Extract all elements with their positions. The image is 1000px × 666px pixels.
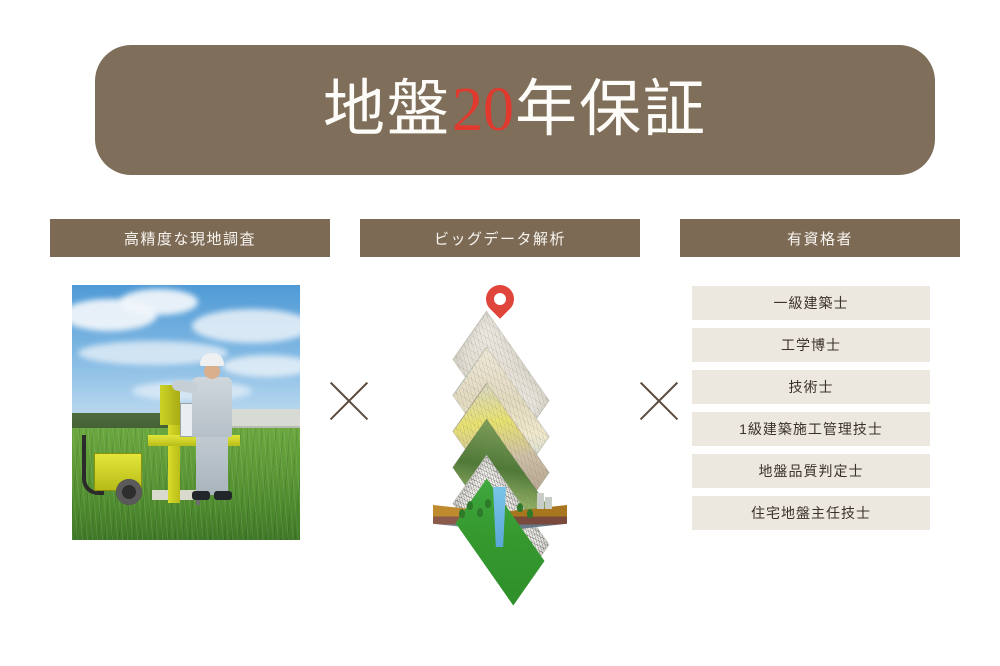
terrain-tree [459,509,465,518]
terrain-tree [527,509,533,518]
cloud-icon [120,289,198,315]
worker-boot [214,491,232,500]
list-item: 住宅地盤主任技士 [692,496,930,530]
column-header-survey-label: 高精度な現地調査 [124,228,256,249]
title-suffix: 年保証 [515,79,707,141]
page-title: 地盤20年保証 [323,79,707,141]
gis-layer-stack-illustration [415,285,585,520]
list-item: 技術士 [692,370,930,404]
list-item-label: 1級建築施工管理技士 [739,419,883,439]
terrain-building [545,497,552,509]
terrain-tree [485,499,491,508]
list-item: 地盤品質判定士 [692,454,930,488]
list-item-label: 技術士 [789,377,834,397]
list-item-label: 工学博士 [781,335,841,355]
column-header-qualified-label: 有資格者 [787,228,853,249]
terrain-tree [477,508,483,517]
rig-head [160,385,180,425]
list-item-label: 住宅地盤主任技士 [751,503,871,523]
column-header-bigdata-label: ビッグデータ解析 [434,228,566,249]
helmet-icon [200,353,224,366]
title-accent-number: 20 [451,79,515,141]
list-item-label: 地盤品質判定士 [759,461,864,481]
column-header-qualified: 有資格者 [680,219,960,257]
title-banner: 地盤20年保証 [95,45,935,175]
list-item: 1級建築施工管理技士 [692,412,930,446]
cloud-icon [192,309,300,343]
column-header-bigdata: ビッグデータ解析 [360,219,640,257]
column-header-survey: 高精度な現地調査 [50,219,330,257]
list-item: 工学博士 [692,328,930,362]
title-prefix: 地盤 [323,79,451,141]
multiply-separator-2-icon [633,375,685,427]
generator-wheel [116,479,142,505]
worker-legs [196,433,228,495]
list-item: 一級建築士 [692,286,930,320]
terrain-base-block [433,475,567,535]
worker-boot [192,491,210,500]
qualification-list: 一級建築士 工学博士 技術士 1級建築施工管理技士 地盤品質判定士 住宅地盤主任… [692,286,930,538]
terrain-tree [467,501,473,510]
terrain-building [537,493,544,509]
list-item-label: 一級建築士 [774,293,849,313]
terrain-tree [517,503,523,512]
survey-photo [72,285,300,540]
multiply-separator-1-icon [323,375,375,427]
